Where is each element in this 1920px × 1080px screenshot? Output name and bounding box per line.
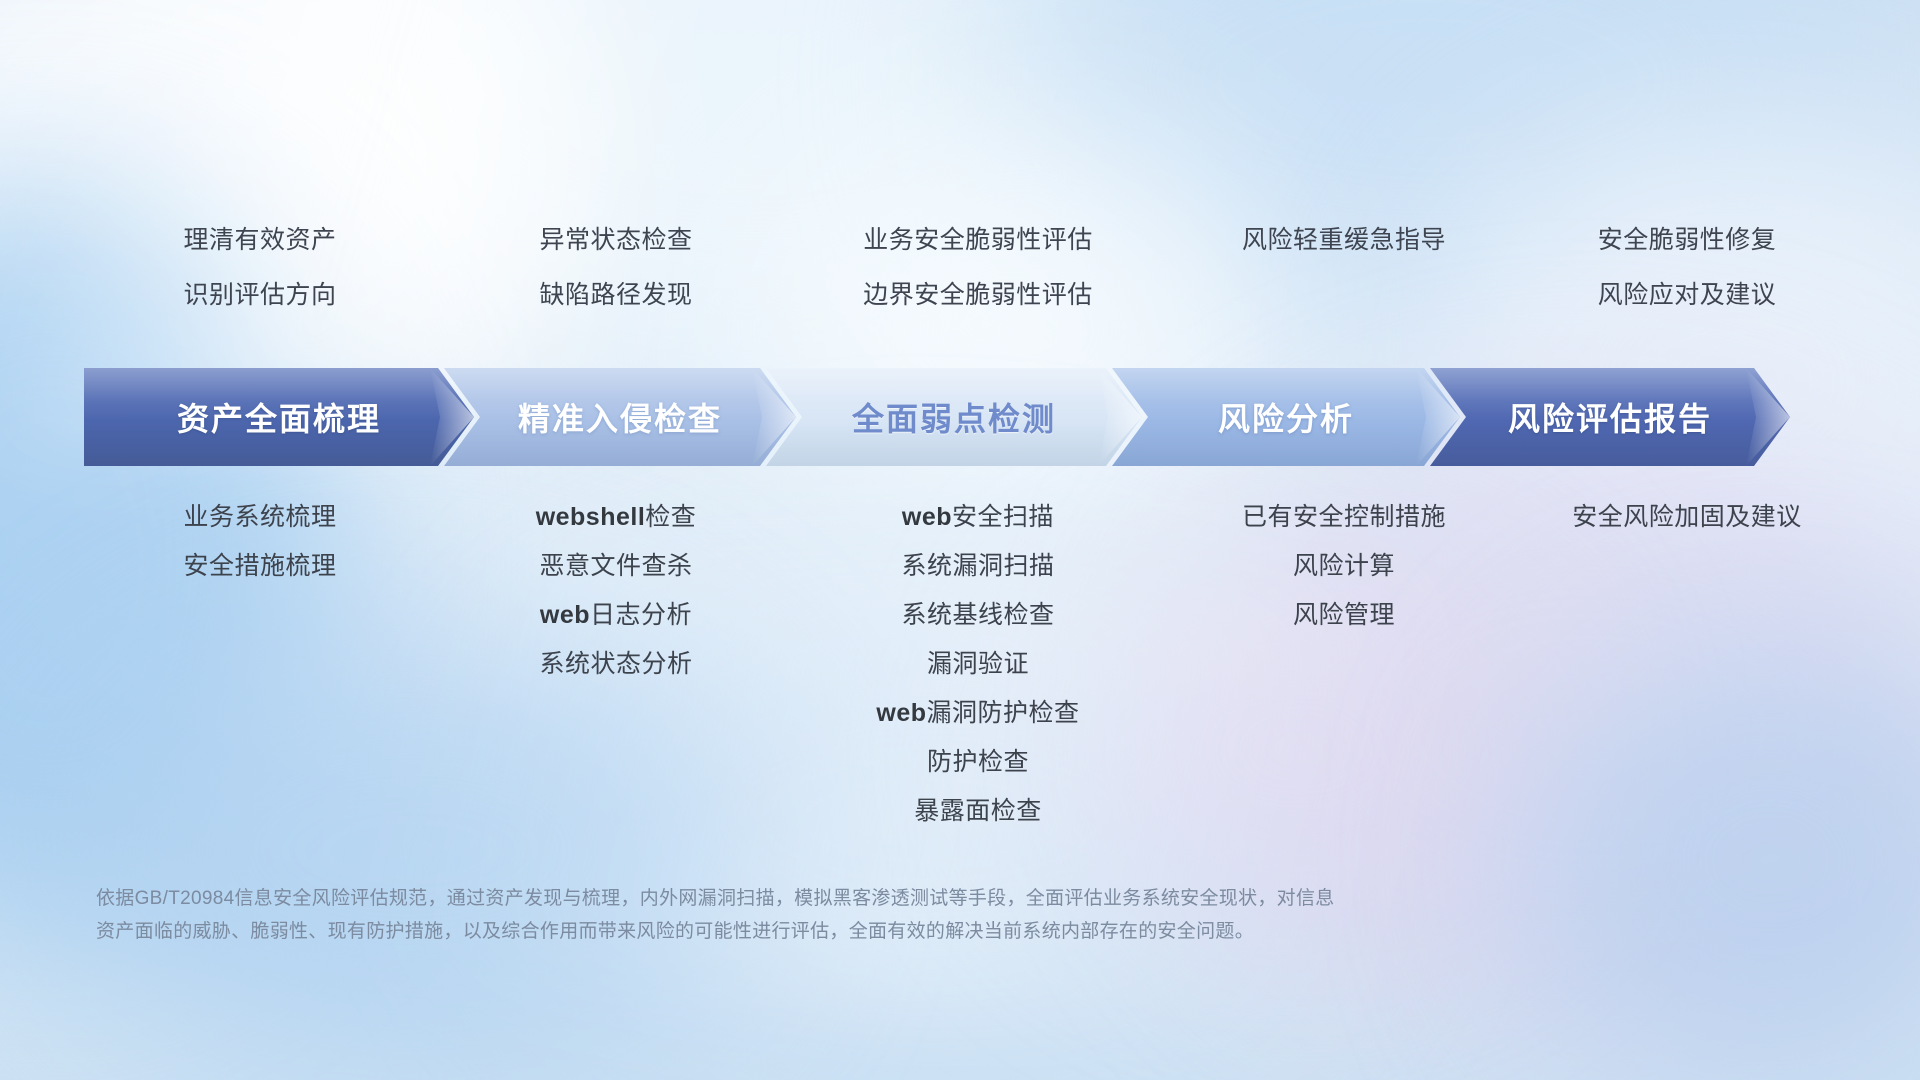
outcome-text: 风险轻重缓急指导: [1242, 228, 1446, 253]
task-item: webshell检查: [536, 505, 697, 530]
task-item: 安全措施梳理: [183, 554, 336, 579]
chevron-step-5[interactable]: 风险评估报告: [1430, 368, 1790, 466]
outcomes-step-2: 异常状态检查 缺陷路径发现: [440, 228, 792, 308]
tasks-row: 业务系统梳理 安全措施梳理 webshell检查 恶意文件查杀 web日志分析 …: [80, 505, 1850, 824]
task-item: 系统基线检查: [901, 603, 1054, 628]
outcome-text: 理清有效资产: [183, 228, 336, 253]
chevron-step-1[interactable]: 资产全面梳理: [84, 368, 474, 466]
chevron-arrow-icon: [1746, 368, 1790, 466]
outcome-text: 安全脆弱性修复: [1598, 228, 1777, 253]
task-item: 恶意文件查杀: [539, 554, 692, 579]
footer-line-2: 资产面临的威胁、脆弱性、现有防护措施，以及综合作用而带来风险的可能性进行评估，全…: [96, 915, 1626, 948]
task-item: 已有安全控制措施: [1242, 505, 1446, 530]
outcomes-step-4: 风险轻重缓急指导: [1164, 228, 1524, 308]
tasks-step-3: web安全扫描 系统漏洞扫描 系统基线检查 漏洞验证 web漏洞防护检查 防护检…: [792, 505, 1164, 824]
footer-line-1: 依据GB/T20984信息安全风险评估规范，通过资产发现与梳理，内外网漏洞扫描，…: [96, 882, 1626, 915]
footer-description: 依据GB/T20984信息安全风险评估规范，通过资产发现与梳理，内外网漏洞扫描，…: [96, 882, 1626, 948]
task-item: 系统漏洞扫描: [901, 554, 1054, 579]
task-item: 风险管理: [1293, 603, 1395, 628]
chevron-label: 风险分析: [1218, 394, 1354, 440]
task-item: 业务系统梳理: [183, 505, 336, 530]
chevron-step-4[interactable]: 风险分析: [1112, 368, 1460, 466]
task-item: 安全风险加固及建议: [1572, 505, 1802, 530]
task-item: 系统状态分析: [539, 652, 692, 677]
chevron-step-2[interactable]: 精准入侵检查: [444, 368, 796, 466]
task-item: web日志分析: [540, 603, 692, 628]
outcomes-step-3: 业务安全脆弱性评估 边界安全脆弱性评估: [792, 228, 1164, 308]
tasks-step-5: 安全风险加固及建议: [1524, 505, 1850, 530]
task-item: 漏洞验证: [927, 652, 1029, 677]
chevron-label: 全面弱点检测: [852, 394, 1056, 440]
task-item: web漏洞防护检查: [876, 701, 1079, 726]
outcomes-step-1: 理清有效资产 识别评估方向: [80, 228, 440, 308]
outcome-text: 业务安全脆弱性评估: [863, 228, 1093, 253]
outcomes-row: 理清有效资产 识别评估方向 异常状态检查 缺陷路径发现 业务安全脆弱性评估 边界…: [80, 228, 1850, 308]
outcome-text: 识别评估方向: [183, 283, 336, 308]
chevron-step-3[interactable]: 全面弱点检测: [766, 368, 1142, 466]
process-flow-diagram: 理清有效资产 识别评估方向 异常状态检查 缺陷路径发现 业务安全脆弱性评估 边界…: [0, 0, 1920, 1080]
chevron-label: 资产全面梳理: [177, 394, 381, 440]
outcome-text: 异常状态检查: [539, 228, 692, 253]
chevron-label: 风险评估报告: [1508, 394, 1712, 440]
task-item: 暴露面检查: [914, 799, 1042, 824]
tasks-step-2: webshell检查 恶意文件查杀 web日志分析 系统状态分析: [440, 505, 792, 677]
task-item: 风险计算: [1293, 554, 1395, 579]
task-item: 防护检查: [927, 750, 1029, 775]
task-item: web安全扫描: [902, 505, 1054, 530]
outcome-text: 缺陷路径发现: [539, 283, 692, 308]
chevron-band: 资产全面梳理 精准入侵检查 全面弱点检测 风险分析 风险评估报告: [84, 368, 1844, 466]
outcome-text: 风险应对及建议: [1598, 283, 1777, 308]
tasks-step-4: 已有安全控制措施 风险计算 风险管理: [1164, 505, 1524, 628]
outcome-text: 边界安全脆弱性评估: [863, 283, 1093, 308]
outcomes-step-5: 安全脆弱性修复 风险应对及建议: [1524, 228, 1850, 308]
chevron-label: 精准入侵检查: [518, 394, 722, 440]
tasks-step-1: 业务系统梳理 安全措施梳理: [80, 505, 440, 579]
